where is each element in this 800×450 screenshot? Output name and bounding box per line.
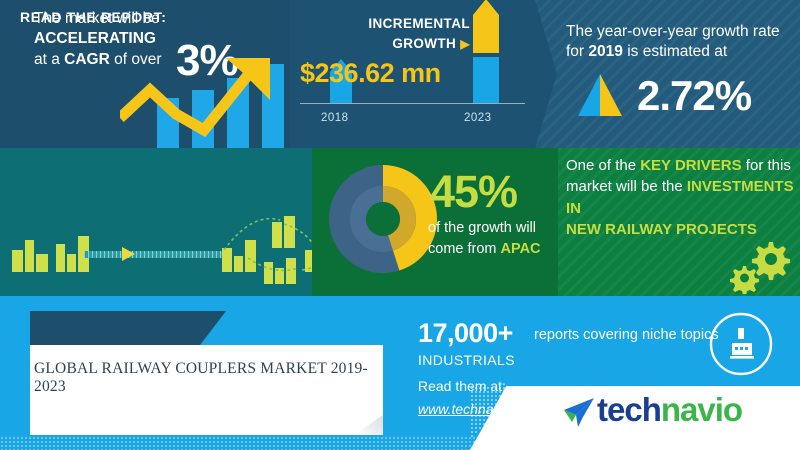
drivers-text-emphasis1: KEY DRIVERS	[640, 157, 741, 174]
apac-text-part2: come from	[428, 241, 501, 257]
read-the-report-tab	[30, 311, 226, 347]
building	[36, 254, 48, 272]
building	[67, 254, 76, 272]
incremental-growth-label: INCREMENTAL GROWTH ▶	[300, 14, 470, 55]
report-count-caption: reports covering niche topics	[534, 327, 719, 343]
city-buildings-illustration	[0, 210, 330, 296]
apac-value: 45%	[430, 166, 517, 218]
apac-text-part1: of the growth will	[428, 220, 536, 236]
direction-arrow-icon	[122, 247, 135, 261]
drivers-statement: One of the KEY DRIVERS for this market w…	[566, 155, 798, 240]
donut-chart	[329, 165, 437, 273]
apac-statement: of the growth will come from APAC	[428, 218, 558, 260]
yoy-statement: The year-over-year growth rate for 2019 …	[566, 22, 781, 63]
drivers-text-part3: market will be the	[566, 178, 687, 195]
gears-icon	[725, 238, 793, 294]
yoy-text-part2: for	[566, 43, 588, 60]
report-count: 17,000+	[418, 318, 513, 349]
two-tone-triangle-icon	[578, 74, 622, 116]
read-the-report-label: READ THE REPORT:	[20, 9, 167, 25]
incremental-label-line2: GROWTH	[392, 36, 456, 51]
sector-label: INDUSTRIALS	[418, 352, 515, 368]
rising-arrow-icon	[120, 56, 288, 148]
yoy-text-part1: The year-over-year growth rate	[566, 23, 780, 40]
technavio-wordmark: technavio	[597, 391, 742, 429]
apac-text-emphasis: APAC	[501, 241, 541, 257]
railway-track	[84, 251, 232, 258]
yoy-text-part3: is estimated at	[623, 43, 727, 60]
building	[25, 240, 34, 272]
drivers-text-emphasis3: NEW RAILWAY PROJECTS	[566, 221, 757, 238]
bar-2023	[473, 0, 499, 103]
building	[12, 250, 23, 272]
logo-word-part1: tech	[597, 391, 661, 428]
incremental-label-line1: INCREMENTAL	[368, 16, 470, 31]
axis-label-2018: 2018	[321, 112, 349, 124]
drivers-text-part1: One of the	[566, 157, 640, 174]
yoy-text-bold: 2019	[588, 43, 622, 60]
factory-circle-icon	[708, 311, 774, 377]
yoy-value: 2.72%	[637, 72, 751, 120]
building	[56, 244, 65, 272]
cagr-bar-chart-icon	[120, 56, 288, 148]
paper-plane-icon	[560, 398, 594, 428]
triangle-right-icon: ▶	[460, 37, 470, 51]
drivers-text-part2: for this	[742, 157, 791, 174]
axis-label-2023: 2023	[464, 112, 492, 124]
logo-word-part2: navio	[661, 391, 742, 428]
infographic-canvas: The market will be ACCELERATING at a CAG…	[0, 0, 800, 450]
track-ties	[84, 251, 232, 258]
cagr-text-bold2: CAGR	[64, 51, 110, 68]
incremental-growth-value: $236.62 mn	[300, 58, 441, 89]
cagr-text-part2: at a	[34, 51, 64, 68]
report-title: GLOBAL RAILWAY COUPLERS MARKET 2019-2023	[34, 360, 374, 396]
cagr-text-bold1: ACCELERATING	[34, 30, 156, 47]
